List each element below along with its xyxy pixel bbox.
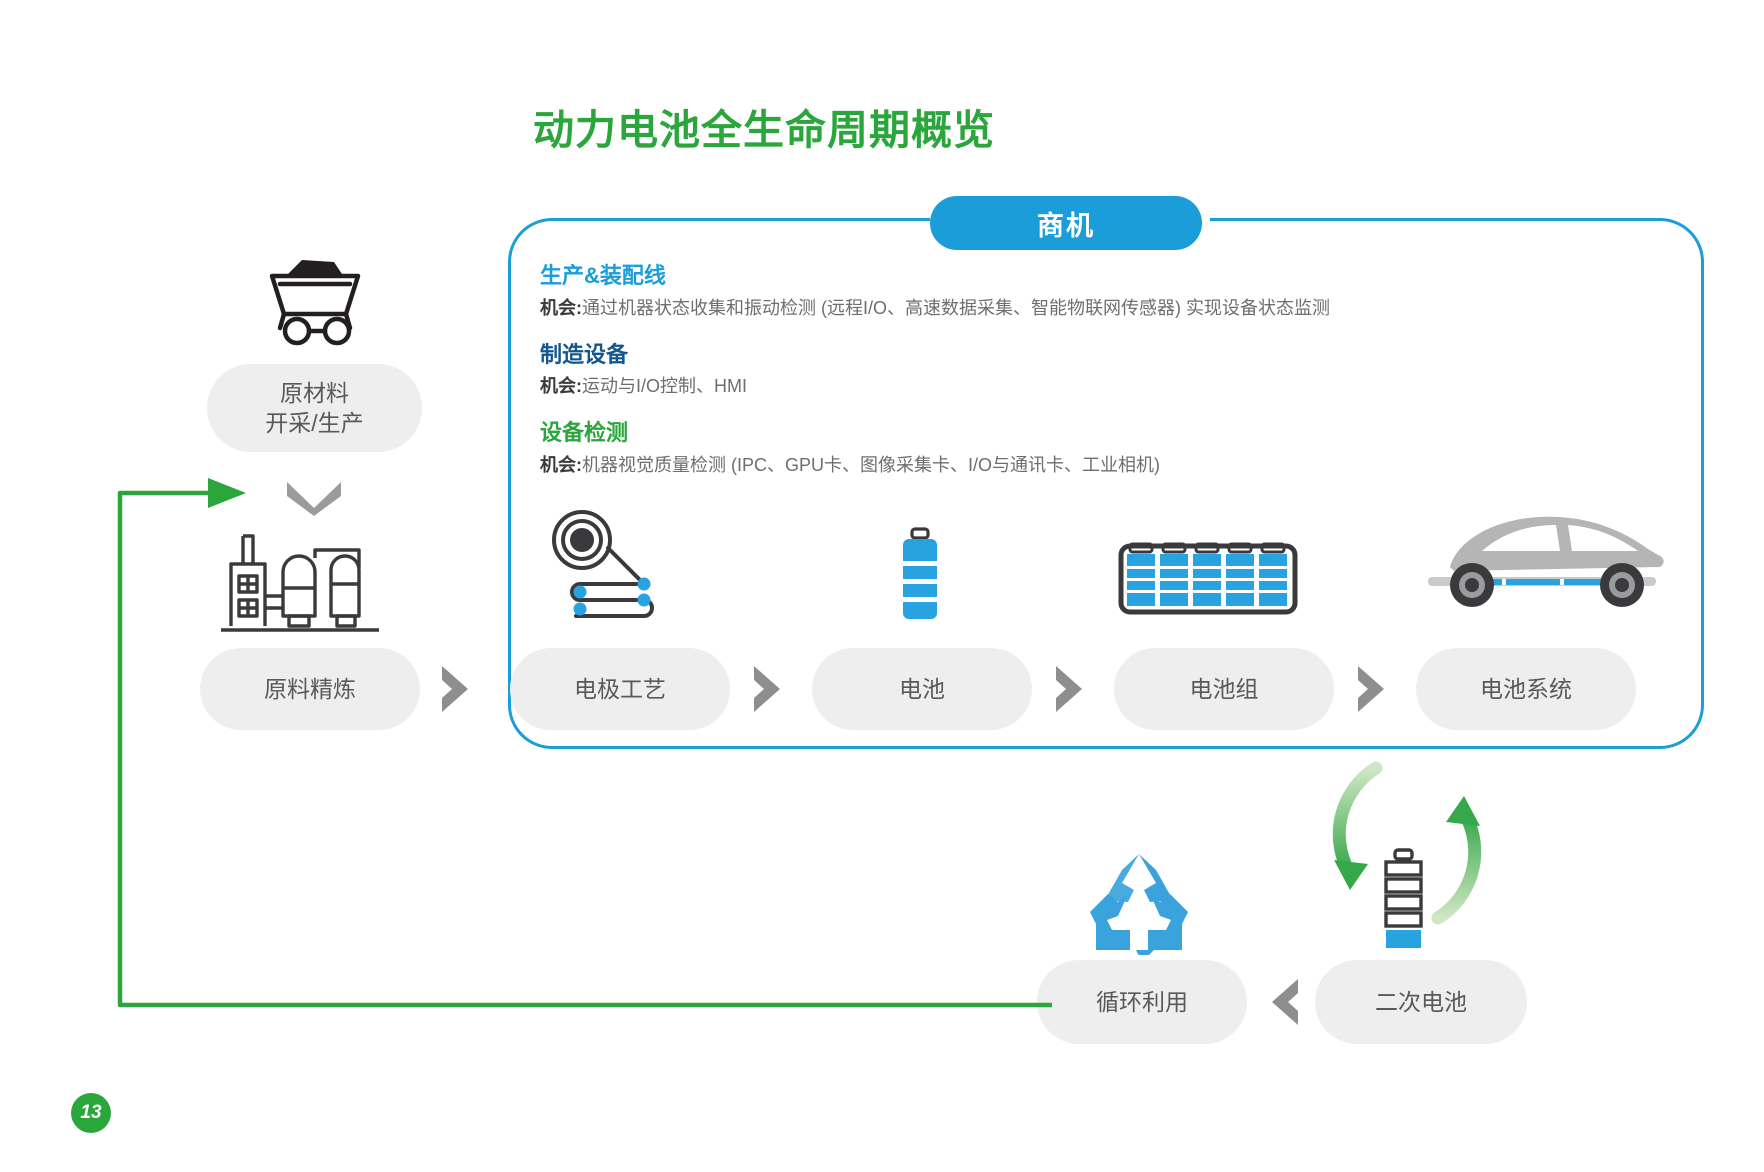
opportunity-prefix: 机会: [540, 298, 582, 318]
recycle-icon [1084, 850, 1194, 955]
chevron-left-icon [1268, 977, 1302, 1027]
tab-business-opportunity[interactable]: 商机 [930, 196, 1202, 250]
stage-pill-second-life[interactable]: 二次电池 [1315, 960, 1527, 1044]
secondary-battery-icon [1378, 848, 1430, 954]
page-title: 动力电池全生命周期概览 [0, 96, 1646, 156]
stage-pill-raw-material[interactable]: 原材料 开采/生产 [207, 364, 422, 452]
slide-canvas: 动力电池全生命周期概览 商机 生产&装配线 机会:通过机器状态收集和振动检测 (… [0, 0, 1764, 1172]
opportunity-heading: 设备检测 [540, 419, 1670, 447]
tab-label: 商机 [1037, 204, 1095, 243]
stage-label: 电池组 [1190, 674, 1259, 704]
opportunity-heading: 制造设备 [540, 341, 1670, 369]
opportunity-body: 机会:运动与I/O控制、HMI [540, 373, 1670, 400]
chevron-right-icon [1354, 664, 1388, 714]
stage-label-line2: 开采/生产 [265, 408, 363, 438]
opportunity-text: 运动与I/O控制、HMI [582, 376, 747, 396]
opportunity-prefix: 机会: [540, 376, 582, 396]
stage-label-line1: 原材料 [280, 378, 349, 408]
opportunity-body: 机会:通过机器状态收集和振动检测 (远程I/O、高速数据采集、智能物联网传感器)… [540, 295, 1670, 322]
stage-pill-system[interactable]: 电池系统 [1416, 648, 1636, 730]
stage-label: 循环利用 [1096, 987, 1188, 1017]
electric-car-icon [1410, 505, 1670, 620]
opportunity-text: 通过机器状态收集和振动检测 (远程I/O、高速数据采集、智能物联网传感器) 实现… [582, 298, 1330, 318]
return-flow-arrow-icon [100, 470, 1060, 1010]
opportunity-list: 生产&装配线 机会:通过机器状态收集和振动检测 (远程I/O、高速数据采集、智能… [540, 262, 1670, 498]
stage-label: 二次电池 [1375, 987, 1467, 1017]
mining-cart-icon [250, 238, 380, 348]
page-number: 13 [80, 1102, 101, 1124]
opportunity-heading: 生产&装配线 [540, 262, 1670, 290]
page-number-badge: 13 [71, 1093, 111, 1133]
stage-pill-module[interactable]: 电池组 [1114, 648, 1334, 730]
stage-label: 电池系统 [1480, 674, 1572, 704]
battery-module-icon [1118, 540, 1298, 618]
stage-pill-recycling[interactable]: 循环利用 [1037, 960, 1247, 1044]
opportunity-item-production-line: 生产&装配线 机会:通过机器状态收集和振动检测 (远程I/O、高速数据采集、智能… [540, 262, 1670, 322]
opportunity-item-manufacturing-equipment: 制造设备 机会:运动与I/O控制、HMI [540, 341, 1670, 401]
